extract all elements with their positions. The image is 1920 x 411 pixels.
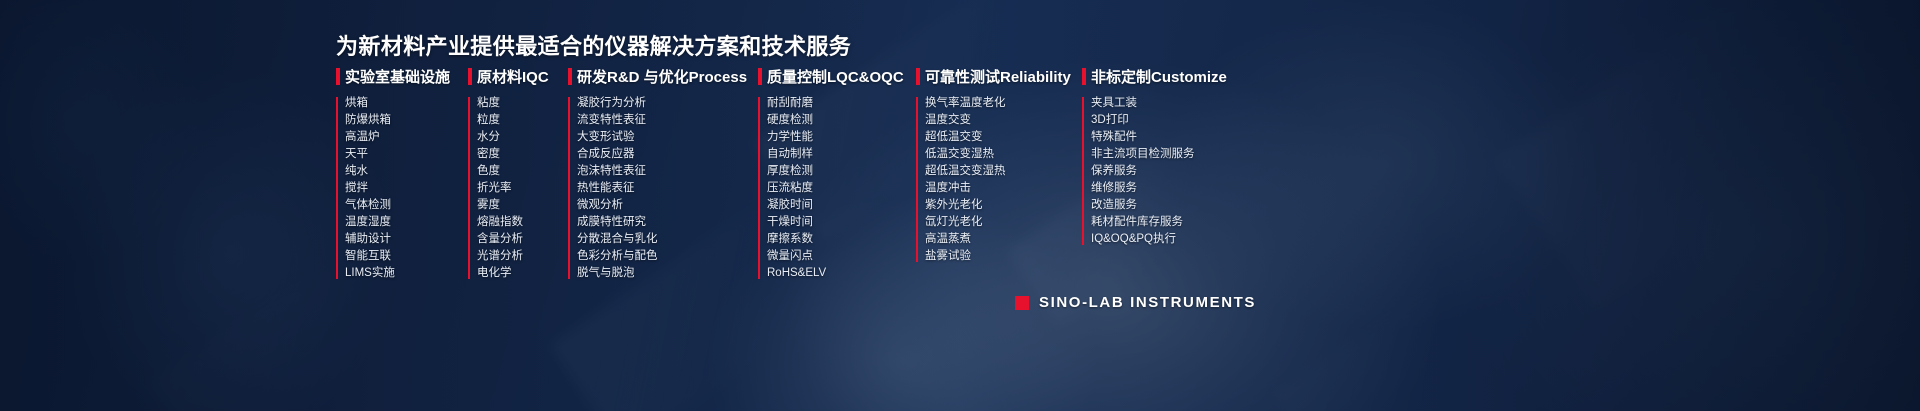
column-header-label: 实验室基础设施 (345, 66, 450, 87)
column-header-label: 研发R&D 与优化Process (577, 66, 747, 87)
column-item-list: 凝胶行为分析 流变特性表征 大变形试验 合成反应器 泡沫特性表征 热性能表征 微… (568, 95, 758, 282)
column-header: 可靠性测试Reliability (916, 66, 1082, 86)
list-item[interactable]: 微观分析 (577, 197, 758, 214)
capability-columns: 实验室基础设施 烘箱 防爆烘箱 高温炉 天平 纯水 搅拌 气体检测 温度湿度 辅… (336, 66, 1282, 282)
column-header: 实验室基础设施 (336, 66, 468, 86)
list-item[interactable]: 搅拌 (345, 180, 468, 197)
accent-bar-icon (336, 68, 340, 85)
list-item[interactable]: RoHS&ELV (767, 265, 916, 282)
list-item[interactable]: 水分 (477, 129, 568, 146)
slide-content: 为新材料产业提供最适合的仪器解决方案和技术服务 实验室基础设施 烘箱 防爆烘箱 … (0, 0, 1920, 411)
list-item[interactable]: 纯水 (345, 163, 468, 180)
accent-bar-icon (758, 68, 762, 85)
list-item[interactable]: 温度交变 (925, 112, 1082, 129)
list-item[interactable]: 厚度检测 (767, 163, 916, 180)
list-item[interactable]: 色度 (477, 163, 568, 180)
list-item[interactable]: 电化学 (477, 265, 568, 282)
list-item[interactable]: 夹具工装 (1091, 95, 1282, 112)
column-header-label: 非标定制Customize (1091, 66, 1227, 87)
list-item[interactable]: 泡沫特性表征 (577, 163, 758, 180)
list-item[interactable]: 密度 (477, 146, 568, 163)
list-item[interactable]: 粒度 (477, 112, 568, 129)
list-item[interactable]: 色彩分析与配色 (577, 248, 758, 265)
list-item[interactable]: 流变特性表征 (577, 112, 758, 129)
brand-lockup: SINO-LAB INSTRUMENTS (1015, 294, 1256, 311)
list-item[interactable]: 换气率温度老化 (925, 95, 1082, 112)
list-item[interactable]: 耗材配件库存服务 (1091, 214, 1282, 231)
list-item[interactable]: 气体检测 (345, 197, 468, 214)
list-item[interactable]: 保养服务 (1091, 163, 1282, 180)
list-item[interactable]: 熔融指数 (477, 214, 568, 231)
capability-column-rnd-process: 研发R&D 与优化Process 凝胶行为分析 流变特性表征 大变形试验 合成反… (568, 66, 758, 282)
list-item[interactable]: 硬度检测 (767, 112, 916, 129)
list-item[interactable]: 合成反应器 (577, 146, 758, 163)
list-item[interactable]: 粘度 (477, 95, 568, 112)
list-item[interactable]: 高温蒸煮 (925, 231, 1082, 248)
list-item[interactable]: 力学性能 (767, 129, 916, 146)
column-header-label: 原材料IQC (477, 66, 549, 87)
column-header: 研发R&D 与优化Process (568, 66, 758, 86)
list-item[interactable]: LIMS实施 (345, 265, 468, 282)
list-item[interactable]: 压流粘度 (767, 180, 916, 197)
list-item[interactable]: 自动制样 (767, 146, 916, 163)
column-header-label: 质量控制LQC&OQC (767, 66, 904, 87)
accent-bar-icon (1082, 68, 1086, 85)
list-item[interactable]: 低温交变湿热 (925, 146, 1082, 163)
capability-column-raw-material-iqc: 原材料IQC 粘度 粒度 水分 密度 色度 折光率 雾度 熔融指数 含量分析 光… (468, 66, 568, 282)
list-item[interactable]: 凝胶行为分析 (577, 95, 758, 112)
list-item[interactable]: 成膜特性研究 (577, 214, 758, 231)
list-item[interactable]: 折光率 (477, 180, 568, 197)
list-item[interactable]: 超低温交变 (925, 129, 1082, 146)
capability-column-customize: 非标定制Customize 夹具工装 3D打印 特殊配件 非主流项目检测服务 保… (1082, 66, 1282, 248)
list-item[interactable]: 氙灯光老化 (925, 214, 1082, 231)
column-item-list: 粘度 粒度 水分 密度 色度 折光率 雾度 熔融指数 含量分析 光谱分析 电化学 (468, 95, 568, 282)
list-item[interactable]: 盐雾试验 (925, 248, 1082, 265)
list-item[interactable]: 智能互联 (345, 248, 468, 265)
capability-column-reliability: 可靠性测试Reliability 换气率温度老化 温度交变 超低温交变 低温交变… (916, 66, 1082, 265)
column-item-list: 烘箱 防爆烘箱 高温炉 天平 纯水 搅拌 气体检测 温度湿度 辅助设计 智能互联… (336, 95, 468, 282)
accent-bar-icon (468, 68, 472, 85)
list-item[interactable]: 大变形试验 (577, 129, 758, 146)
list-item[interactable]: 改造服务 (1091, 197, 1282, 214)
list-item[interactable]: 含量分析 (477, 231, 568, 248)
list-item[interactable]: 特殊配件 (1091, 129, 1282, 146)
list-item[interactable]: 耐刮耐磨 (767, 95, 916, 112)
accent-bar-icon (916, 68, 920, 85)
list-item[interactable]: 紫外光老化 (925, 197, 1082, 214)
list-item[interactable]: 干燥时间 (767, 214, 916, 231)
list-item[interactable]: 凝胶时间 (767, 197, 916, 214)
list-item[interactable]: 3D打印 (1091, 112, 1282, 129)
brand-name-label: SINO-LAB INSTRUMENTS (1039, 294, 1256, 311)
list-item[interactable]: 烘箱 (345, 95, 468, 112)
column-item-list: 换气率温度老化 温度交变 超低温交变 低温交变湿热 超低温交变湿热 温度冲击 紫… (916, 95, 1082, 265)
column-item-list: 夹具工装 3D打印 特殊配件 非主流项目检测服务 保养服务 维修服务 改造服务 … (1082, 95, 1282, 248)
list-item[interactable]: IQ&OQ&PQ执行 (1091, 231, 1282, 248)
list-item[interactable]: 雾度 (477, 197, 568, 214)
list-item[interactable]: 非主流项目检测服务 (1091, 146, 1282, 163)
list-item[interactable]: 脱气与脱泡 (577, 265, 758, 282)
column-header: 质量控制LQC&OQC (758, 66, 916, 86)
column-item-list: 耐刮耐磨 硬度检测 力学性能 自动制样 厚度检测 压流粘度 凝胶时间 干燥时间 … (758, 95, 916, 282)
column-header: 原材料IQC (468, 66, 568, 86)
list-item[interactable]: 分散混合与乳化 (577, 231, 758, 248)
list-item[interactable]: 防爆烘箱 (345, 112, 468, 129)
column-header-label: 可靠性测试Reliability (925, 66, 1071, 87)
column-header: 非标定制Customize (1082, 66, 1282, 86)
accent-bar-icon (568, 68, 572, 85)
list-item[interactable]: 热性能表征 (577, 180, 758, 197)
list-item[interactable]: 微量闪点 (767, 248, 916, 265)
list-item[interactable]: 摩擦系数 (767, 231, 916, 248)
list-item[interactable]: 维修服务 (1091, 180, 1282, 197)
list-item[interactable]: 温度冲击 (925, 180, 1082, 197)
capability-column-quality-control: 质量控制LQC&OQC 耐刮耐磨 硬度检测 力学性能 自动制样 厚度检测 压流粘… (758, 66, 916, 282)
list-item[interactable]: 天平 (345, 146, 468, 163)
capability-column-lab-infrastructure: 实验室基础设施 烘箱 防爆烘箱 高温炉 天平 纯水 搅拌 气体检测 温度湿度 辅… (336, 66, 468, 282)
page-title: 为新材料产业提供最适合的仪器解决方案和技术服务 (336, 29, 851, 61)
list-item[interactable]: 超低温交变湿热 (925, 163, 1082, 180)
list-item[interactable]: 温度湿度 (345, 214, 468, 231)
list-item[interactable]: 高温炉 (345, 129, 468, 146)
list-item[interactable]: 光谱分析 (477, 248, 568, 265)
list-item[interactable]: 辅助设计 (345, 231, 468, 248)
square-logo-icon (1015, 296, 1029, 310)
